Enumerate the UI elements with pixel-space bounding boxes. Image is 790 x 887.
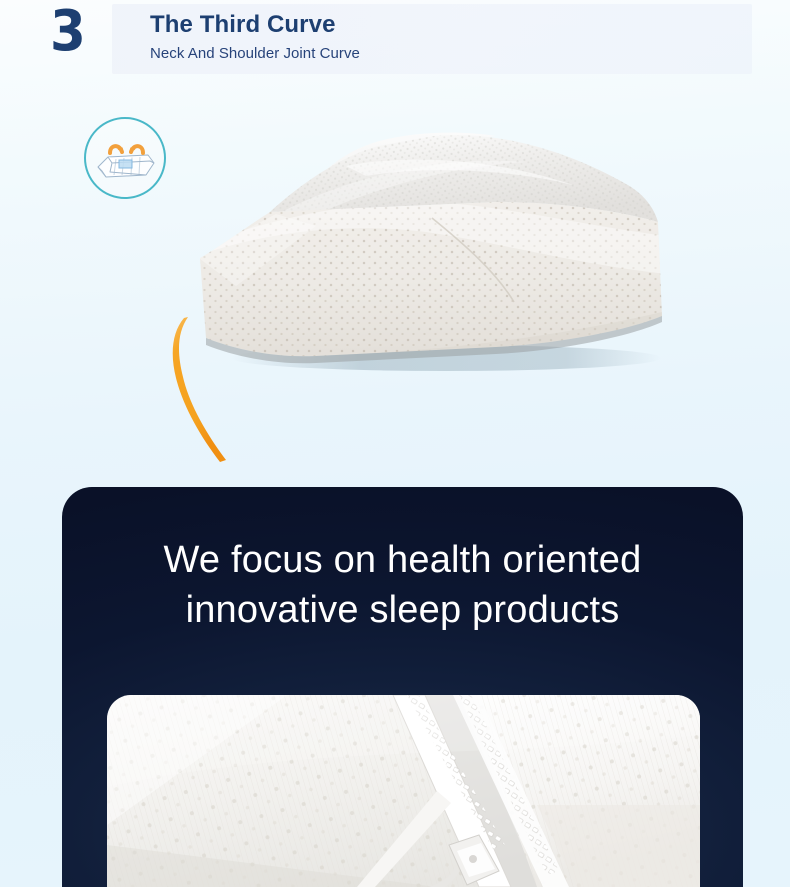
pillow-illustration — [196, 106, 666, 426]
zipper-illustration — [107, 695, 700, 887]
hero-section — [0, 84, 790, 469]
product-page: 3 The Third Curve Neck And Shoulder Join… — [0, 0, 790, 887]
pillow-cover-zipper-closeup-photo — [107, 695, 700, 887]
section-header: 3 The Third Curve Neck And Shoulder Join… — [0, 0, 790, 84]
promo-headline-line-2: innovative sleep products — [82, 585, 723, 635]
step-number: 3 — [50, 2, 85, 62]
promo-headline-line-1: We focus on health oriented — [82, 535, 723, 585]
badge-illustration — [86, 119, 164, 197]
pillow-neck-support-icon — [84, 117, 166, 199]
contour-memory-foam-pillow-photo — [196, 106, 666, 426]
promo-card: We focus on health oriented innovative s… — [62, 487, 743, 887]
promo-headline: We focus on health oriented innovative s… — [62, 535, 743, 635]
header-text-group: The Third Curve Neck And Shoulder Joint … — [150, 10, 360, 64]
page-subtitle: Neck And Shoulder Joint Curve — [150, 43, 360, 64]
page-title: The Third Curve — [150, 10, 360, 40]
